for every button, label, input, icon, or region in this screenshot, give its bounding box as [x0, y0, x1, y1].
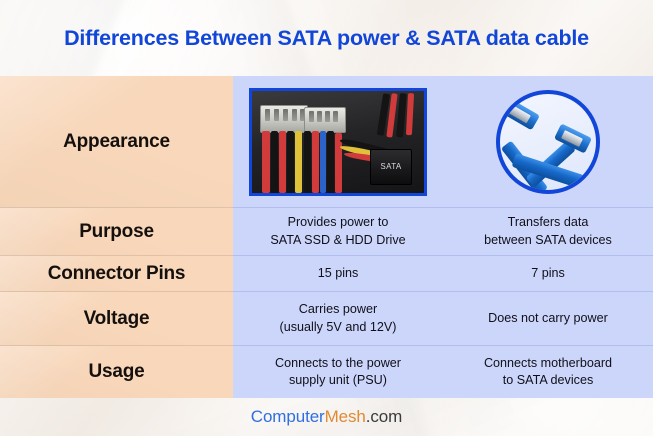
brand-part-mesh: Mesh: [325, 407, 366, 426]
table-row: Connector Pins 15 pins 7 pins: [0, 255, 653, 291]
title-bar: Differences Between SATA power & SATA da…: [0, 0, 653, 76]
table-row: Usage Connects to the power supply unit …: [0, 345, 653, 398]
sata-data-cable-image: [496, 90, 600, 194]
cell-purpose-data: Transfers data between SATA devices: [443, 207, 653, 255]
cell-usage-data: Connects motherboard to SATA devices: [443, 345, 653, 398]
table-row: Appearance: [0, 76, 653, 207]
cell-voltage-data: Does not carry power: [443, 291, 653, 345]
brand-part-tld: .com: [366, 407, 402, 426]
row-label-usage: Usage: [0, 345, 233, 398]
cell-appearance-data: [443, 76, 653, 207]
text-line: 15 pins: [318, 266, 359, 280]
cell-pins-data: 7 pins: [443, 255, 653, 291]
infographic-page: Differences Between SATA power & SATA da…: [0, 0, 653, 436]
sata-power-cable-image: SATA: [249, 88, 427, 196]
text-line: to SATA devices: [503, 373, 594, 387]
row-label-connector-pins: Connector Pins: [0, 255, 233, 291]
text-line: Connects to the power: [275, 356, 401, 370]
text-line: 7 pins: [531, 266, 565, 280]
row-label-appearance: Appearance: [0, 76, 233, 207]
brand-logo[interactable]: ComputerMesh.com: [251, 407, 402, 427]
text-line: (usually 5V and 12V): [280, 320, 397, 334]
brand-part-computer: Computer: [251, 407, 325, 426]
cell-pins-power: 15 pins: [233, 255, 443, 291]
text-line: Provides power to: [288, 215, 389, 229]
row-label-voltage: Voltage: [0, 291, 233, 345]
table-row: Voltage Carries power (usually 5V and 12…: [0, 291, 653, 345]
text-line: SATA SSD & HDD Drive: [270, 233, 405, 247]
text-line: Does not carry power: [488, 311, 608, 325]
text-line: Connects motherboard: [484, 356, 612, 370]
sata-connector-label: SATA: [370, 149, 412, 185]
text-line: supply unit (PSU): [289, 373, 387, 387]
row-label-purpose: Purpose: [0, 207, 233, 255]
cell-usage-power: Connects to the power supply unit (PSU): [233, 345, 443, 398]
comparison-table: Appearance: [0, 76, 653, 398]
text-line: Transfers data: [508, 215, 589, 229]
cell-purpose-power: Provides power to SATA SSD & HDD Drive: [233, 207, 443, 255]
page-title: Differences Between SATA power & SATA da…: [64, 26, 589, 51]
table-row: Purpose Provides power to SATA SSD & HDD…: [0, 207, 653, 255]
footer: ComputerMesh.com: [0, 398, 653, 436]
cell-appearance-power: SATA: [233, 76, 443, 207]
text-line: between SATA devices: [484, 233, 612, 247]
text-line: Carries power: [299, 302, 377, 316]
cell-voltage-power: Carries power (usually 5V and 12V): [233, 291, 443, 345]
